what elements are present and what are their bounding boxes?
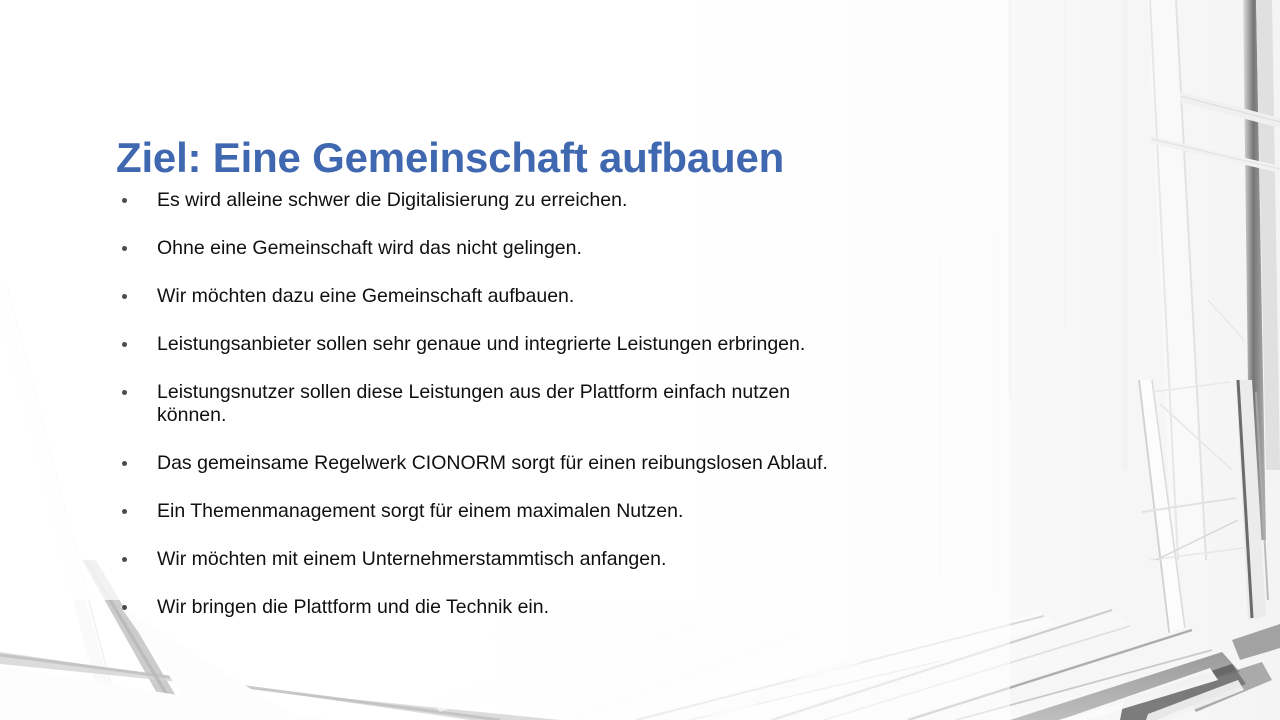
list-item: Wir möchten dazu eine Gemeinschaft aufba… <box>118 285 1018 308</box>
bullet-dot-icon <box>122 246 127 251</box>
presentation-slide: Ziel: Eine Gemeinschaft aufbauen Es wird… <box>0 0 1280 720</box>
list-item-label: Wir bringen die Plattform und die Techni… <box>157 596 1018 619</box>
list-item-label: Ein Themenmanagement sorgt für einem max… <box>157 500 1018 523</box>
slide-title: Ziel: Eine Gemeinschaft aufbauen <box>116 132 976 184</box>
list-item-label: Wir möchten dazu eine Gemeinschaft aufba… <box>157 285 1018 308</box>
bullet-dot-icon <box>122 294 127 299</box>
list-item-label: Leistungsnutzer sollen diese Leistungen … <box>157 381 1018 427</box>
bullet-dot-icon <box>122 557 127 562</box>
list-item: Das gemeinsame Regelwerk CIONORM sorgt f… <box>118 452 1018 475</box>
list-item: Leistungsnutzer sollen diese Leistungen … <box>118 381 1018 427</box>
bullet-dot-icon <box>122 198 127 203</box>
list-item: Ohne eine Gemeinschaft wird das nicht ge… <box>118 237 1018 260</box>
list-item-label: Wir möchten mit einem Unternehmerstammti… <box>157 548 1018 571</box>
list-item: Leistungsanbieter sollen sehr genaue und… <box>118 333 1018 356</box>
bullet-dot-icon <box>122 605 127 610</box>
list-item-label: Das gemeinsame Regelwerk CIONORM sorgt f… <box>157 452 1018 475</box>
list-item-label: Es wird alleine schwer die Digitalisieru… <box>157 189 1018 212</box>
list-item: Wir bringen die Plattform und die Techni… <box>118 596 1018 619</box>
bullet-dot-icon <box>122 509 127 514</box>
list-item: Ein Themenmanagement sorgt für einem max… <box>118 500 1018 523</box>
bullet-dot-icon <box>122 461 127 466</box>
bullet-dot-icon <box>122 342 127 347</box>
list-item-label: Ohne eine Gemeinschaft wird das nicht ge… <box>157 237 1018 260</box>
list-item-label: Leistungsanbieter sollen sehr genaue und… <box>157 333 1018 356</box>
list-item: Es wird alleine schwer die Digitalisieru… <box>118 189 1018 212</box>
bullet-list: Es wird alleine schwer die Digitalisieru… <box>118 189 1018 619</box>
list-item: Wir möchten mit einem Unternehmerstammti… <box>118 548 1018 571</box>
bullet-dot-icon <box>122 390 127 395</box>
